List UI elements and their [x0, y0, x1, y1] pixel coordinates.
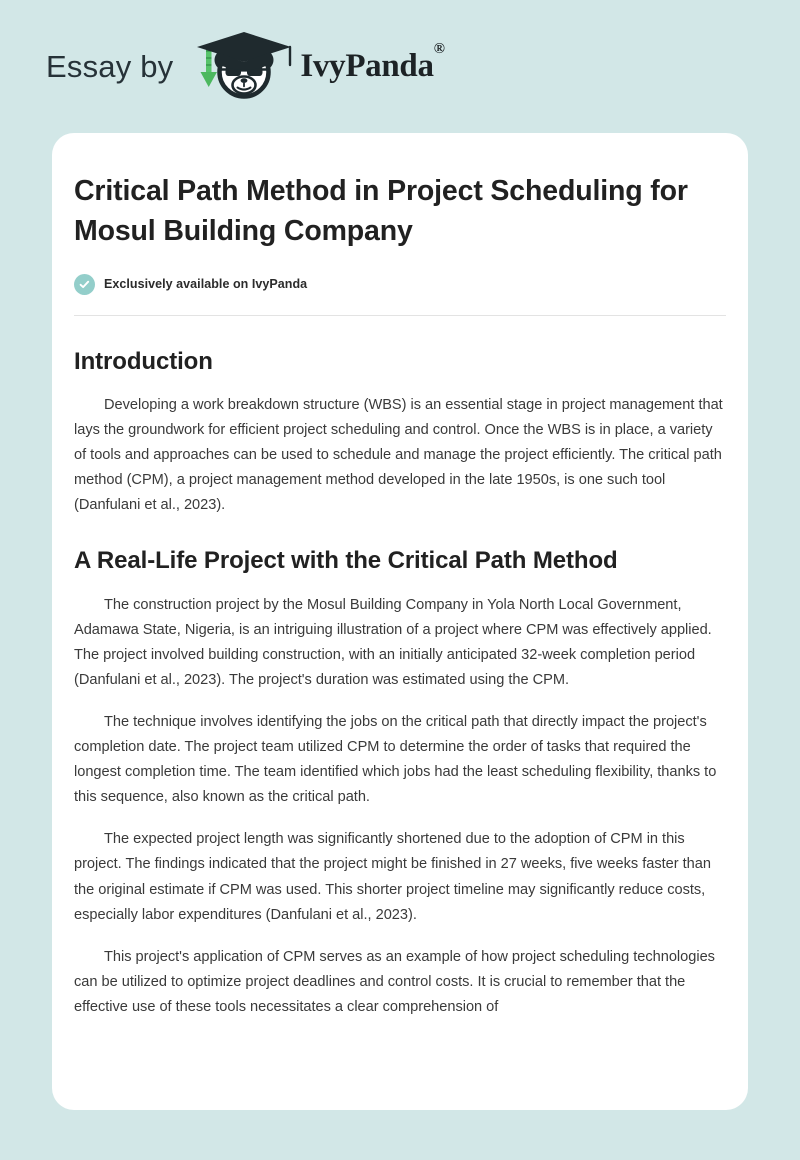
essay-by-label: Essay by: [46, 51, 173, 82]
wordmark-text: IvyPanda: [300, 48, 433, 84]
header-divider: [74, 315, 726, 316]
paragraph: The technique involves identifying the j…: [74, 710, 726, 810]
panda-graduate-icon: [187, 30, 299, 104]
section-heading-introduction: Introduction: [74, 345, 726, 379]
paragraph: This project's application of CPM serves…: [74, 945, 726, 1020]
paragraph: The expected project length was signific…: [74, 827, 726, 927]
ivypanda-logo[interactable]: IvyPanda®: [187, 30, 444, 104]
paragraph: Developing a work breakdown structure (W…: [74, 393, 726, 518]
check-circle-icon: [74, 274, 95, 295]
paragraph: The construction project by the Mosul Bu…: [74, 593, 726, 693]
document-card: Critical Path Method in Project Scheduli…: [52, 133, 748, 1110]
page-title: Critical Path Method in Project Scheduli…: [74, 171, 726, 252]
trademark-symbol: ®: [434, 41, 445, 57]
brand-header: Essay by: [0, 0, 800, 133]
ivypanda-wordmark: IvyPanda®: [300, 50, 444, 83]
exclusive-badge-label: Exclusively available on IvyPanda: [104, 277, 307, 291]
exclusive-badge: Exclusively available on IvyPanda: [74, 274, 726, 295]
section-heading-real-life-project: A Real-Life Project with the Critical Pa…: [74, 544, 726, 578]
